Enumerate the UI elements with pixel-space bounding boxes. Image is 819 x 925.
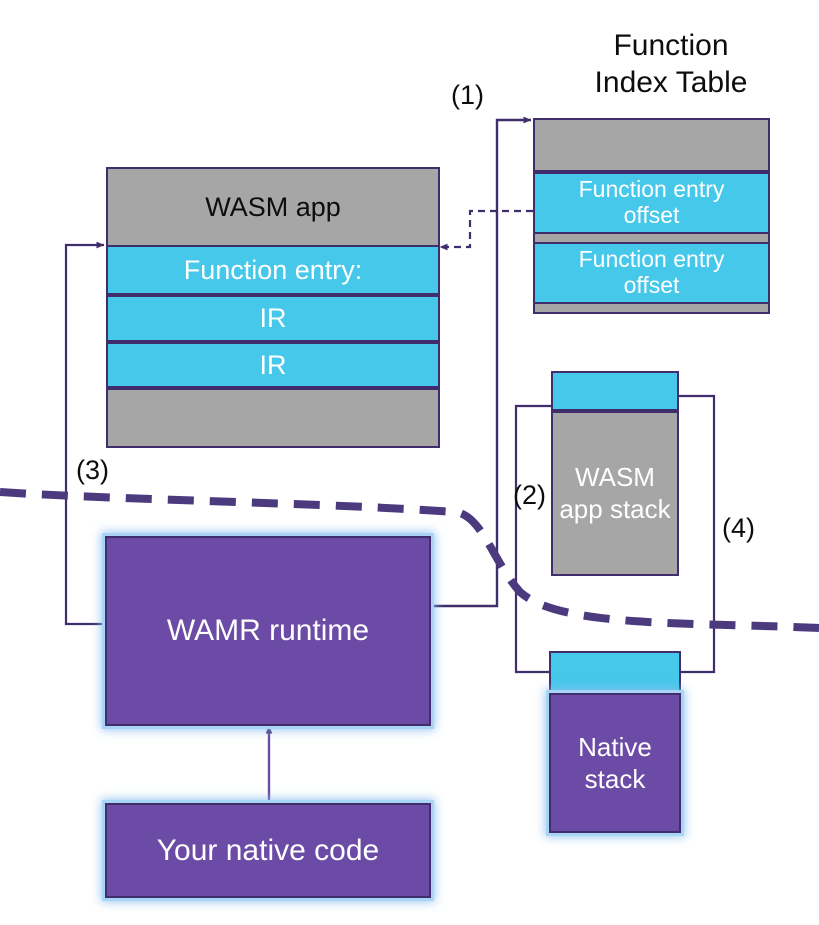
wasm-app-row-label: IR bbox=[260, 303, 287, 333]
step-label-4: (4) bbox=[722, 512, 755, 545]
your-native-code-box: Your native code bbox=[105, 803, 431, 898]
wasm-app-header: WASM app bbox=[106, 167, 440, 247]
diagram-canvas: Function Index Table (1) (2) (3) (4) WAS… bbox=[0, 0, 819, 925]
wasm-app-row-ir-1: IR bbox=[106, 295, 440, 342]
function-index-entry-label: Function entry offset bbox=[579, 247, 725, 299]
wamr-runtime-label: WAMR runtime bbox=[167, 614, 369, 648]
wasm-app-row-function-entry: Function entry: bbox=[106, 245, 440, 295]
wasm-app-stack-label: WASM app stack bbox=[559, 462, 670, 524]
wasm-app-stack-top-band bbox=[551, 371, 679, 411]
step-label-3: (3) bbox=[76, 454, 109, 487]
function-index-table-divider-2 bbox=[533, 304, 770, 314]
native-stack-body: Native stack bbox=[549, 693, 681, 833]
wasm-app-row-label: Function entry: bbox=[184, 255, 363, 285]
wasm-app-row-ir-2: IR bbox=[106, 342, 440, 388]
function-index-entry-label: Function entry offset bbox=[579, 177, 725, 229]
native-stack-top-band bbox=[549, 651, 681, 693]
function-index-table-divider-1 bbox=[533, 234, 770, 242]
function-index-table-heading: Function Index Table bbox=[571, 28, 771, 101]
native-stack-label: Native stack bbox=[578, 731, 652, 796]
function-index-table-entry-1: Function entry offset bbox=[533, 172, 770, 234]
function-index-table-header bbox=[533, 118, 770, 172]
wasm-app-title: WASM app bbox=[205, 192, 341, 222]
your-native-code-label: Your native code bbox=[157, 834, 379, 868]
wasm-app-row-label: IR bbox=[260, 350, 287, 380]
function-index-table-entry-2: Function entry offset bbox=[533, 242, 770, 304]
step-label-1: (1) bbox=[451, 79, 484, 112]
wamr-runtime-box: WAMR runtime bbox=[105, 536, 431, 726]
step-label-2: (2) bbox=[513, 479, 546, 512]
connector-3 bbox=[66, 245, 107, 624]
wasm-app-footer bbox=[106, 388, 440, 448]
wasm-app-stack-body: WASM app stack bbox=[551, 411, 679, 576]
